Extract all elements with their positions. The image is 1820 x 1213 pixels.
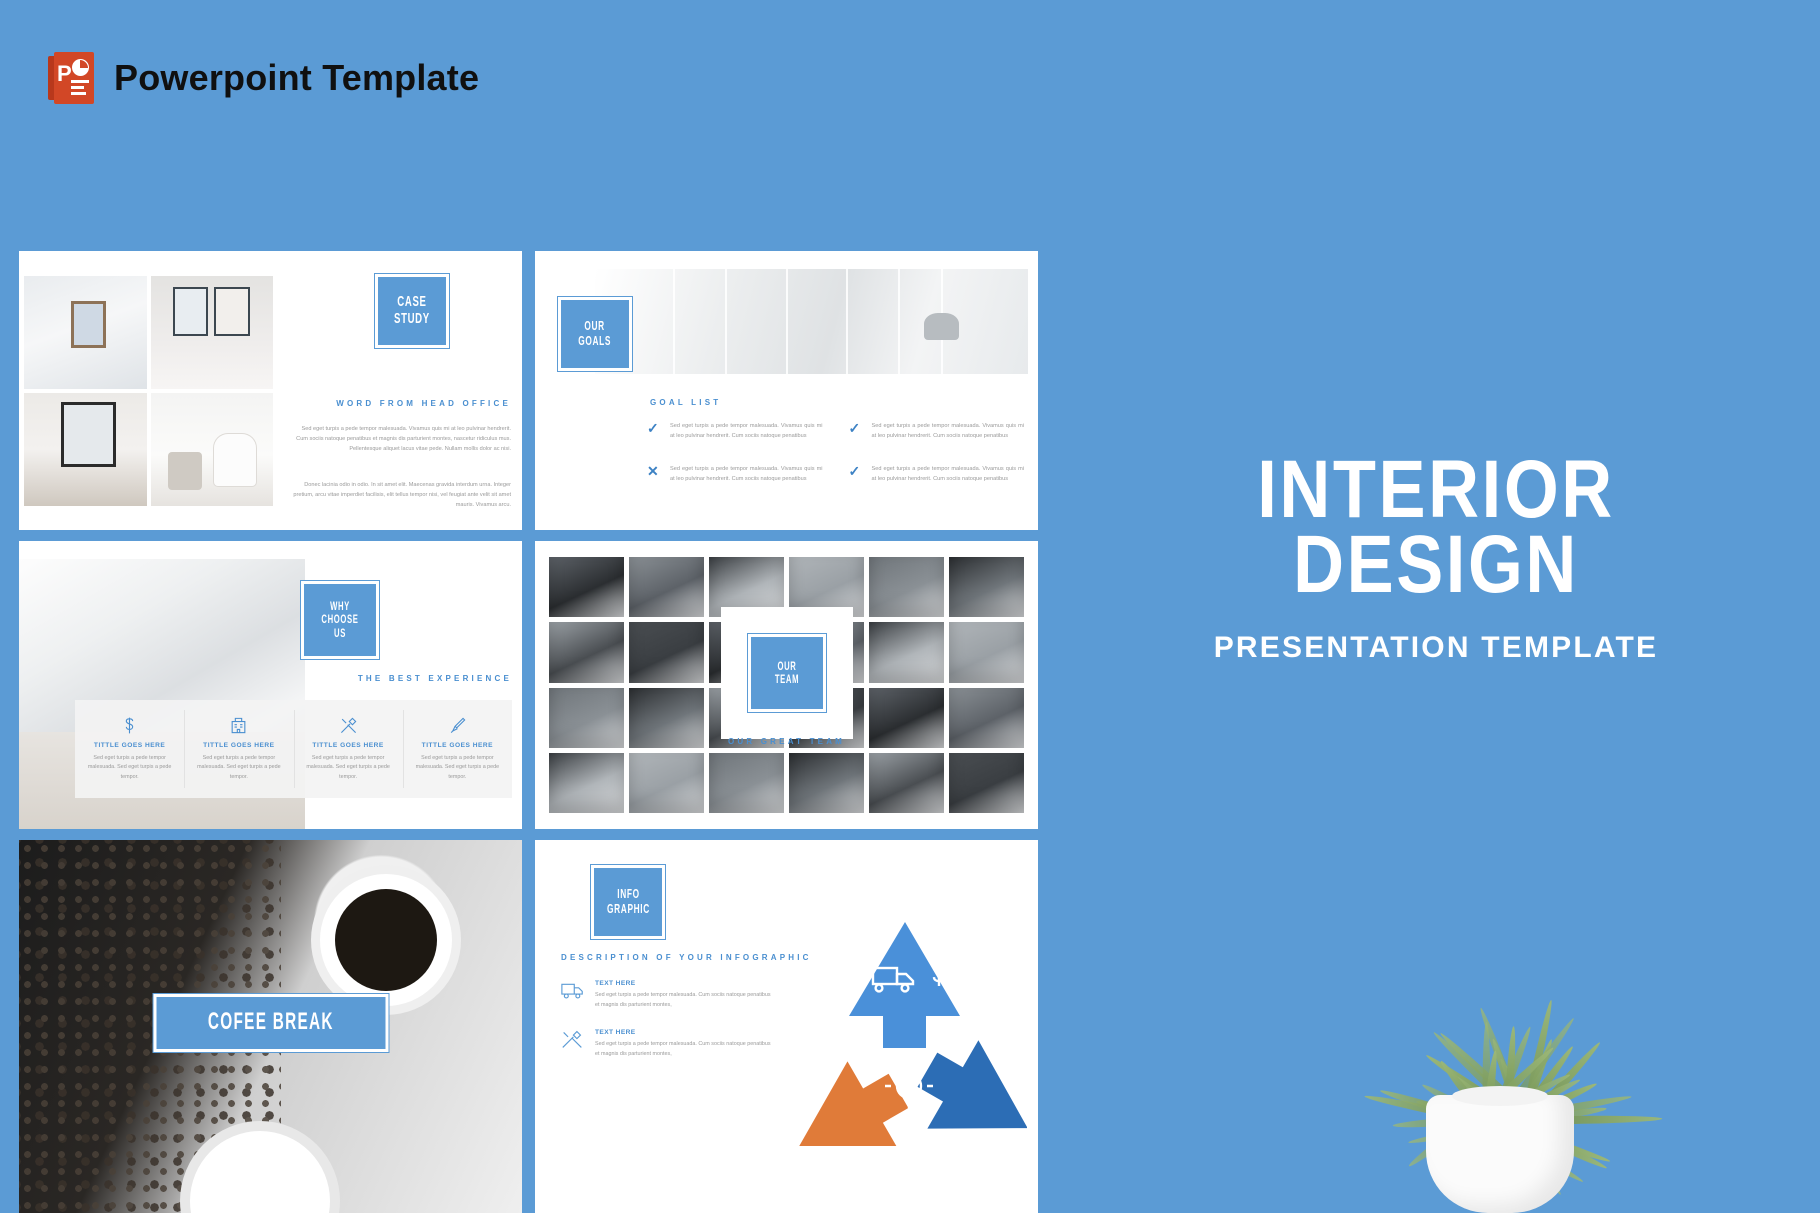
slide-badge-case-study: CASE STUDY xyxy=(374,273,450,349)
slide-our-team[interactable]: OUR TEAM OUR GREAT TEAM xyxy=(535,541,1038,829)
slide-badge-our-goals: OUR GOALS xyxy=(557,296,633,372)
powerpoint-icon-letter: P xyxy=(57,63,72,85)
goal-list: ✓ Sed eget turpis a pede tempor malesuad… xyxy=(647,421,1024,484)
page-header: P Powerpoint Template xyxy=(48,52,479,104)
recycle-arrows-infographic xyxy=(787,916,1027,1146)
bedroom-photo xyxy=(151,276,274,389)
feature-item: TITTLE GOES HERE Sed eget turpis a pede … xyxy=(403,700,512,798)
page-title: Powerpoint Template xyxy=(114,57,479,99)
slide-paragraph: Donec lacinia odio in odio. In sit amet … xyxy=(289,481,511,510)
team-member-photo xyxy=(949,622,1024,682)
badge-line-1: OUR xyxy=(579,319,612,334)
check-icon: ✓ xyxy=(849,464,863,485)
feature-title: TITTLE GOES HERE xyxy=(195,742,282,749)
team-member-photo xyxy=(549,557,624,617)
goal-text: Sed eget turpis a pede tempor malesuada.… xyxy=(872,421,1025,442)
team-member-photo xyxy=(949,753,1024,813)
feature-title: TITTLE GOES HERE xyxy=(414,742,501,749)
tools-icon xyxy=(561,1029,584,1059)
white-architecture-corridor-photo xyxy=(595,269,1028,374)
team-member-photo xyxy=(629,622,704,682)
team-member-photo xyxy=(629,753,704,813)
slide-why-choose-us[interactable]: WHY CHOOSE US THE BEST EXPERIENCE TITTLE… xyxy=(19,541,522,829)
feature-text: Sed eget turpis a pede tempor malesuada.… xyxy=(195,754,282,782)
badge-line-1: COFEE BREAK xyxy=(208,1009,334,1036)
team-member-photo xyxy=(869,557,944,617)
info-row-text: Sed eget turpis a pede tempor malesuada.… xyxy=(595,991,776,1010)
badge-line-2: GRAPHIC xyxy=(607,902,650,917)
feature-text: Sed eget turpis a pede tempor malesuada.… xyxy=(414,754,501,782)
potted-plant-photo xyxy=(1330,890,1670,1213)
brush-icon xyxy=(414,714,501,736)
hero-title: INTERIOR DESIGN xyxy=(1147,452,1725,603)
feature-list: TITTLE GOES HERE Sed eget turpis a pede … xyxy=(75,700,512,798)
building-icon xyxy=(195,714,282,736)
badge-line-2: CHOOSE US xyxy=(315,613,365,640)
info-row-text: Sed eget turpis a pede tempor malesuada.… xyxy=(595,1040,776,1059)
plant-pot xyxy=(1426,1095,1574,1213)
slide-our-goals[interactable]: OUR GOALS GOAL LIST ✓ Sed eget turpis a … xyxy=(535,251,1038,530)
white-chair-photo xyxy=(151,393,274,506)
goal-item: ✕ Sed eget turpis a pede tempor malesuad… xyxy=(647,464,823,485)
tools-icon xyxy=(305,714,392,736)
slide-kicker: GOAL LIST xyxy=(650,398,721,407)
goal-text: Sed eget turpis a pede tempor malesuada.… xyxy=(872,464,1025,485)
feature-title: TITTLE GOES HERE xyxy=(86,742,173,749)
slide-case-study[interactable]: CASE STUDY WORD FROM HEAD OFFICE Sed ege… xyxy=(19,251,522,530)
slide-cofee-break[interactable]: COFEE BREAK xyxy=(19,840,522,1213)
goal-text: Sed eget turpis a pede tempor malesuada.… xyxy=(670,421,823,442)
slide-info-graphic[interactable]: INFO GRAPHIC DESCRIPTION OF YOUR INFOGRA… xyxy=(535,840,1038,1213)
slide-kicker: OUR GREAT TEAM xyxy=(535,737,1038,746)
slide-badge-cofee-break: COFEE BREAK xyxy=(152,993,389,1053)
goal-item: ✓ Sed eget turpis a pede tempor malesuad… xyxy=(849,421,1025,442)
feature-item: TITTLE GOES HERE Sed eget turpis a pede … xyxy=(75,700,184,798)
feature-title: TITTLE GOES HERE xyxy=(305,742,392,749)
badge-line-1: CASE xyxy=(394,294,430,311)
slide-kicker: WORD FROM HEAD OFFICE xyxy=(289,399,511,408)
team-member-photo xyxy=(869,622,944,682)
feature-text: Sed eget turpis a pede tempor malesuada.… xyxy=(305,754,392,782)
truck-icon xyxy=(561,980,584,1010)
team-member-photo xyxy=(869,753,944,813)
info-row: TEXT HERE Sed eget turpis a pede tempor … xyxy=(561,1029,776,1059)
slide-badge-our-team: OUR TEAM xyxy=(747,633,827,713)
feature-item: TITTLE GOES HERE Sed eget turpis a pede … xyxy=(184,700,293,798)
powerpoint-icon: P xyxy=(48,52,94,104)
goal-item: ✓ Sed eget turpis a pede tempor malesuad… xyxy=(647,421,823,442)
loft-window-photo xyxy=(24,393,147,506)
slide-kicker: THE BEST EXPERIENCE xyxy=(239,674,512,683)
goal-item: ✓ Sed eget turpis a pede tempor malesuad… xyxy=(849,464,1025,485)
team-member-photo xyxy=(709,753,784,813)
coffee-cup-top xyxy=(320,874,452,1006)
image-grid xyxy=(24,276,273,506)
feature-item: TITTLE GOES HERE Sed eget turpis a pede … xyxy=(294,700,403,798)
check-icon: ✓ xyxy=(849,421,863,442)
slide-kicker: DESCRIPTION OF YOUR INFOGRAPHIC xyxy=(561,953,812,962)
slide-paragraph: Sed eget turpis a pede tempor malesuada.… xyxy=(289,425,511,454)
feature-text: Sed eget turpis a pede tempor malesuada.… xyxy=(86,754,173,782)
team-member-photo xyxy=(549,753,624,813)
goal-text: Sed eget turpis a pede tempor malesuada.… xyxy=(670,464,823,485)
badge-line-1: INFO xyxy=(607,887,650,902)
slide-badge-info-graphic: INFO GRAPHIC xyxy=(590,864,666,940)
info-row: TEXT HERE Sed eget turpis a pede tempor … xyxy=(561,980,776,1010)
hero-title-block: INTERIOR DESIGN PRESENTATION TEMPLATE xyxy=(1100,452,1772,665)
cross-icon: ✕ xyxy=(647,464,661,485)
hero-title-line-2: DESIGN xyxy=(1147,527,1725,602)
check-icon: ✓ xyxy=(647,421,661,442)
team-member-photo xyxy=(549,622,624,682)
slide-badge-why-choose-us: WHY CHOOSE US xyxy=(300,580,380,660)
badge-line-2: STUDY xyxy=(394,311,430,328)
dollar-icon xyxy=(86,714,173,736)
badge-line-1: OUR xyxy=(774,660,798,673)
team-member-photo xyxy=(629,557,704,617)
info-row-list: TEXT HERE Sed eget turpis a pede tempor … xyxy=(561,980,776,1079)
team-member-photo xyxy=(949,557,1024,617)
hero-subtitle: PRESENTATION TEMPLATE xyxy=(1100,631,1772,665)
team-member-photo xyxy=(789,753,864,813)
info-row-title: TEXT HERE xyxy=(595,980,776,987)
badge-line-2: GOALS xyxy=(579,334,612,349)
badge-line-1: WHY xyxy=(315,600,365,613)
interior-room-photo xyxy=(24,276,147,389)
info-row-title: TEXT HERE xyxy=(595,1029,776,1036)
badge-line-2: TEAM xyxy=(774,673,798,686)
